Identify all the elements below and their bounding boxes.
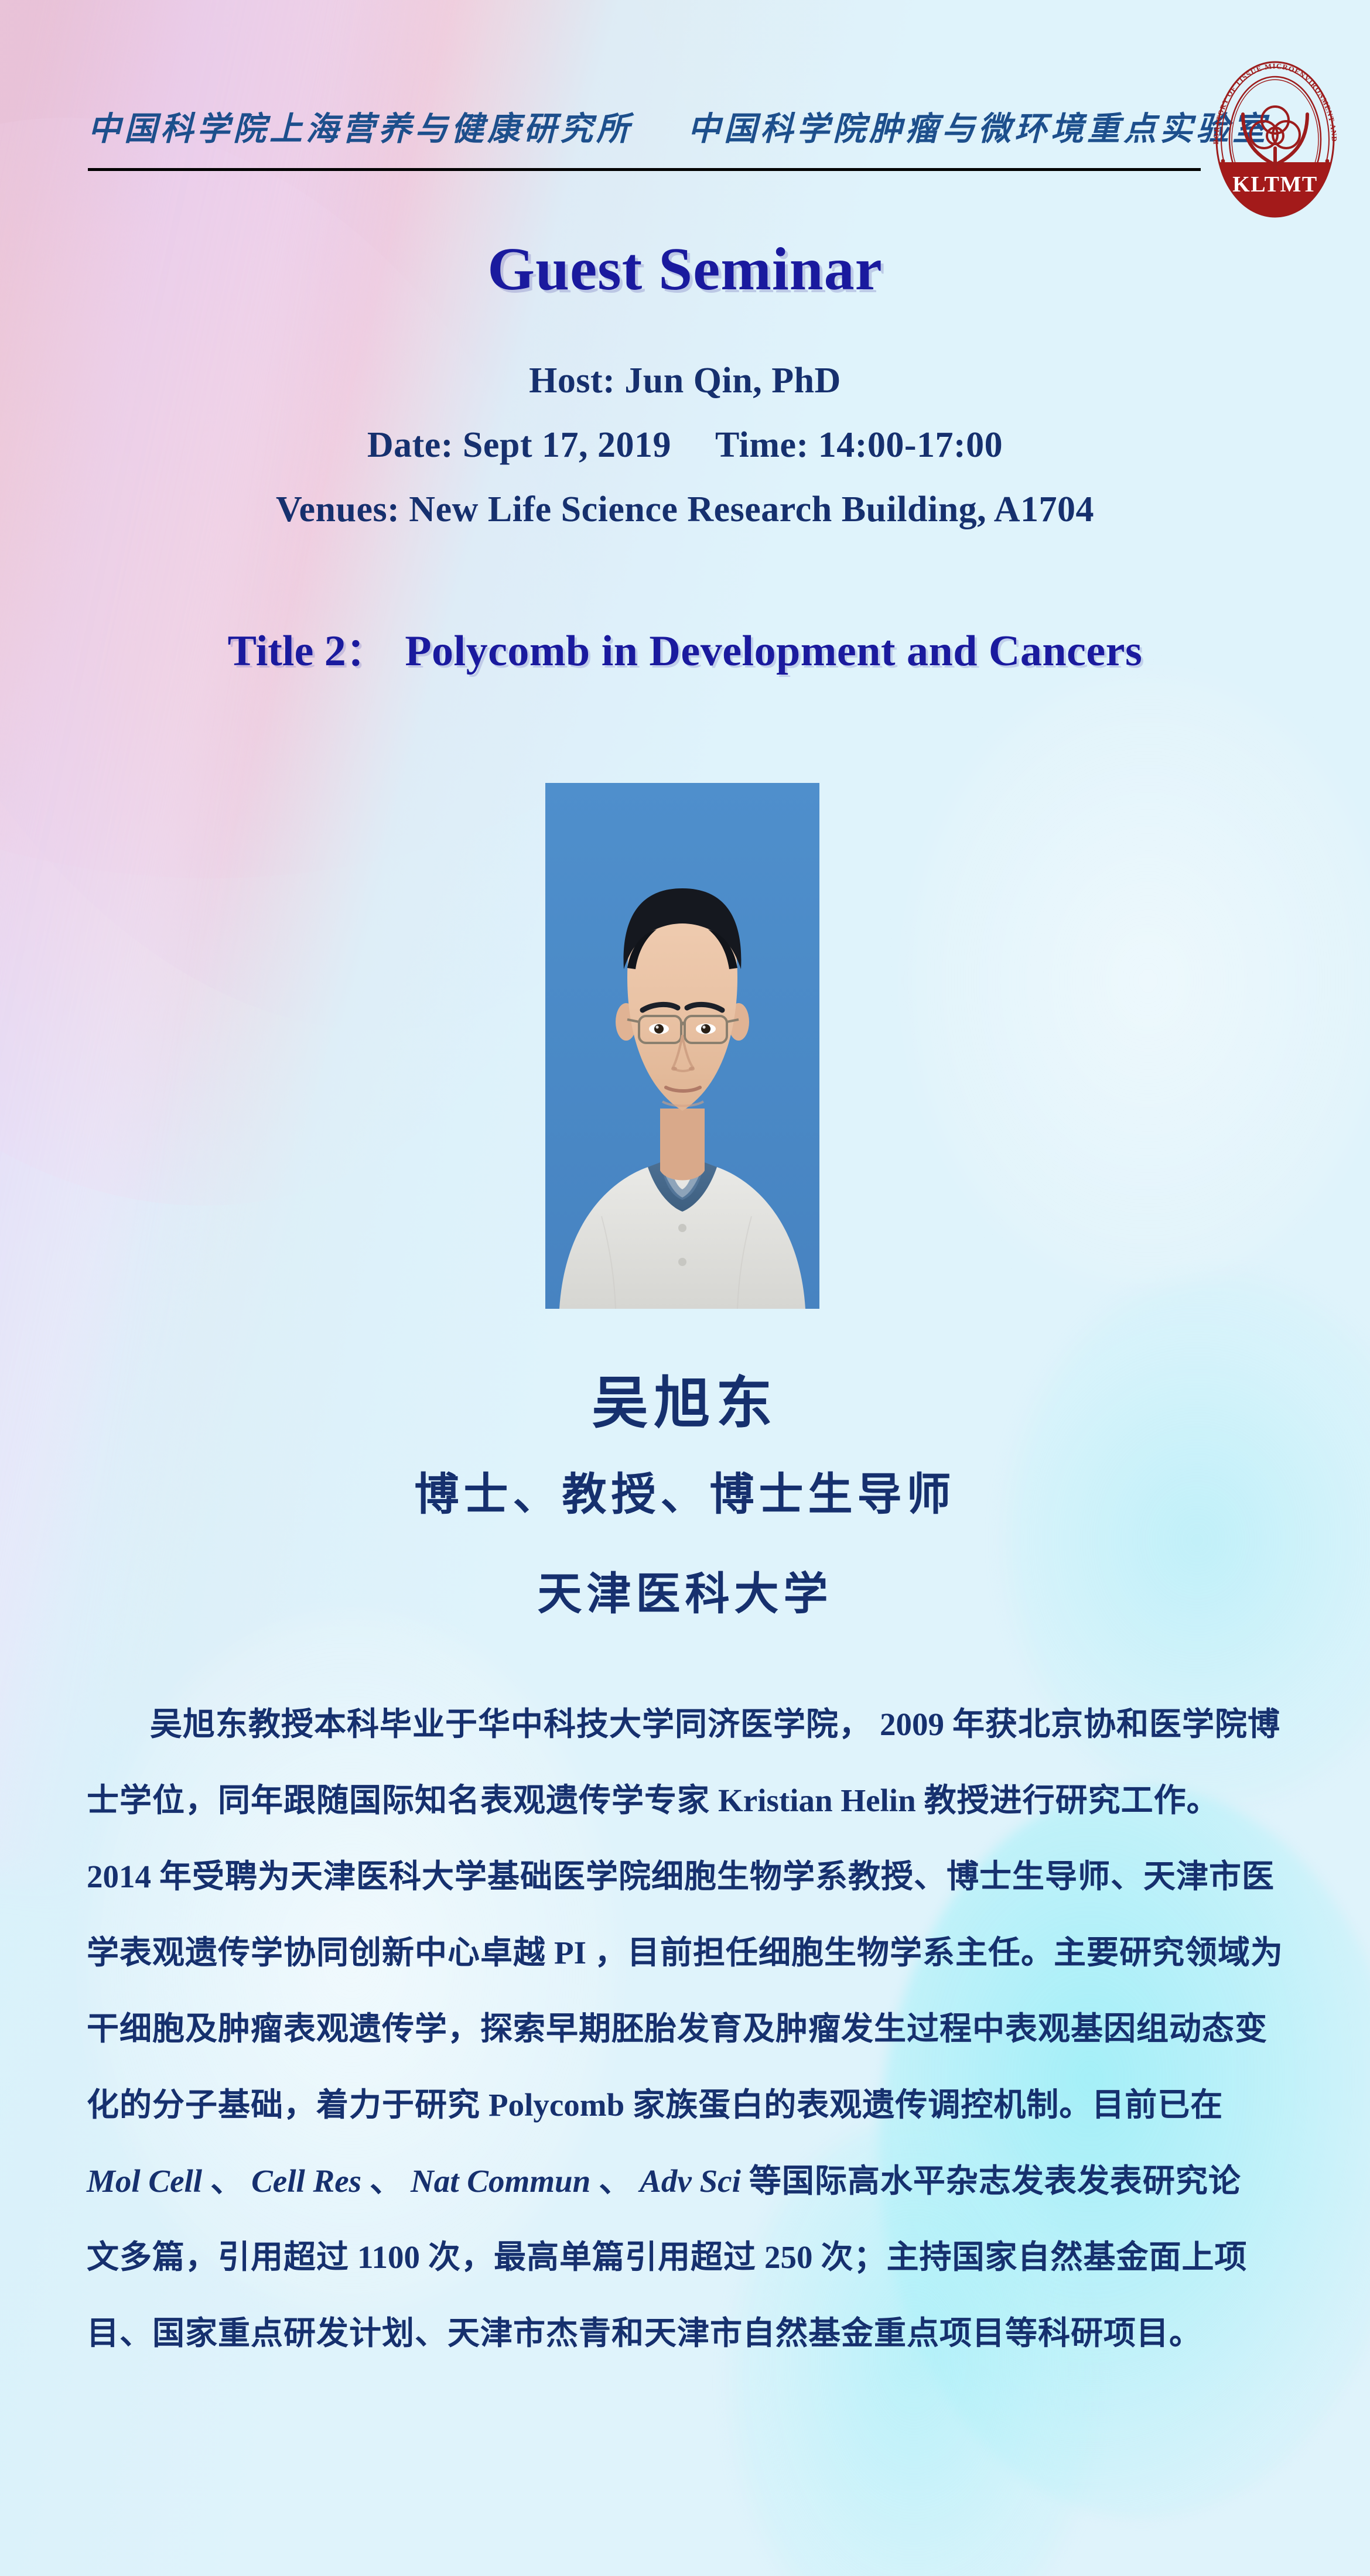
bio-latin-term: Kristian Helin (718, 1783, 916, 1818)
talk-number-label: Title 2 (228, 627, 346, 675)
speaker-affiliation: 天津医科大学 (0, 1558, 1370, 1622)
background-highlight-upper (908, 673, 1370, 1288)
bio-journal-name: Adv Sci (640, 2163, 741, 2199)
time-text: Time: 14:00-17:00 (715, 425, 1003, 465)
venue-line: Venues: New Life Science Research Buildi… (0, 489, 1370, 531)
talk-title-text: Polycomb in Development and Cancers (405, 627, 1142, 675)
bio-text: 次，最高单篇引用超过 (428, 2239, 756, 2275)
logo-acronym: KLTMT (1232, 172, 1317, 197)
bio-latin-term: PI (554, 1935, 586, 1971)
bio-journal-name: Nat Commun (411, 2163, 590, 2199)
date-text: Date: Sept 17, 2019 (367, 425, 671, 465)
speaker-biography: 吴旭东教授本科毕业于华中科技大学同济医学院，2009年获北京协和医学院博士学位，… (87, 1686, 1284, 2372)
bio-text: 年受聘为天津医科大学基础医学院细胞生物学系教授、博士生导师、天津市医 (159, 1859, 1275, 1894)
seminar-poster: 中国科学院上海营养与健康研究所 中国科学院肿瘤与微环境重点实验室 KEY LAB… (0, 0, 1370, 2576)
bio-line: 士学位，同年跟随国际知名表观遗传学专家Kristian Helin教授进行研究工… (87, 1763, 1284, 1839)
organization-key-lab: 中国科学院肿瘤与微环境重点实验室 (688, 111, 1269, 148)
bio-text: 吴旭东教授本科毕业于华中科技大学同济医学院， (150, 1706, 872, 1742)
bio-line: 目、国家重点研发计划、天津市杰青和天津市自然基金重点项目等科研项目。 (87, 2296, 1284, 2372)
speaker-photo (545, 783, 819, 1309)
host-line: Host: Jun Qin, PhD (0, 360, 1370, 402)
bio-latin-term: 250 (764, 2239, 813, 2275)
bio-latin-term: Polycomb (488, 2087, 624, 2123)
bio-line: 学表观遗传学协同创新中心卓越PI，目前担任细胞生物学系主任。主要研究领域为 (87, 1915, 1284, 1991)
bio-line: 吴旭东教授本科毕业于华中科技大学同济医学院，2009年获北京协和医学院博 (87, 1686, 1284, 1763)
bio-text: 干细胞及肿瘤表观遗传学，探索早期胚胎发育及肿瘤发生过程中表观基因组动态变 (87, 2011, 1267, 2047)
bio-line: 2014年受聘为天津医科大学基础医学院细胞生物学系教授、博士生导师、天津市医 (87, 1839, 1284, 1915)
speaker-name: 吴旭东 (0, 1357, 1370, 1439)
bio-latin-term: 2014 (87, 1859, 151, 1894)
bio-text: 家族蛋白的表观遗传调控机制。目前已在 (633, 2087, 1223, 2123)
organization-line: 中国科学院上海营养与健康研究所 中国科学院肿瘤与微环境重点实验室 (88, 102, 1171, 150)
bio-text: 化的分子基础，着力于研究 (87, 2087, 480, 2123)
bio-text: 、 (210, 2163, 243, 2199)
kltmt-logo: KEY LABORATORY OF TISSUE MICROENVIRONMEN… (1202, 56, 1348, 223)
bio-text: 、 (599, 2163, 631, 2199)
bio-latin-term: 1100 (357, 2239, 420, 2275)
bio-text: 目、国家重点研发计划、天津市杰青和天津市自然基金重点项目等科研项目。 (87, 2315, 1202, 2351)
bio-text: 学表观遗传学协同创新中心卓越 (87, 1935, 546, 1971)
bio-line: 化的分子基础，着力于研究Polycomb家族蛋白的表观遗传调控机制。目前已在 (87, 2067, 1284, 2143)
bio-text: 教授进行研究工作。 (924, 1783, 1219, 1818)
bio-latin-term: 2009 (880, 1706, 944, 1742)
bio-text: 等国际高水平杂志发表发表研究论 (749, 2163, 1241, 2199)
talk-colon: ： (346, 631, 385, 674)
poster-header: 中国科学院上海营养与健康研究所 中国科学院肿瘤与微环境重点实验室 (0, 102, 1370, 208)
bio-text: 次；主持国家自然基金面上项 (821, 2239, 1248, 2275)
bio-text: 、 (370, 2163, 402, 2199)
header-divider (88, 168, 1201, 171)
talk-title: Title 2：Polycomb in Development and Canc… (0, 621, 1370, 677)
date-time-line: Date: Sept 17, 2019 Time: 14:00-17:00 (0, 425, 1370, 466)
bio-journal-name: Mol Cell (87, 2163, 202, 2199)
bio-text: 文多篇，引用超过 (87, 2239, 349, 2275)
bio-text: ，目前担任细胞生物学系主任。主要研究领域为 (595, 1935, 1283, 1971)
page-title: Guest Seminar (0, 234, 1370, 304)
bio-journal-name: Cell Res (251, 2163, 361, 2199)
speaker-role: 博士、教授、博士生导师 (0, 1458, 1370, 1523)
bio-text: 年获北京协和医学院博 (952, 1706, 1280, 1742)
organization-institute: 中国科学院上海营养与健康研究所 (88, 111, 633, 148)
bio-text: 士学位，同年跟随国际知名表观遗传学专家 (87, 1783, 710, 1818)
bio-line: Mol Cell、Cell Res、Nat Commun、Adv Sci等国际高… (87, 2143, 1284, 2219)
bio-line: 文多篇，引用超过1100次，最高单篇引用超过250次；主持国家自然基金面上项 (87, 2219, 1284, 2296)
bio-line: 干细胞及肿瘤表观遗传学，探索早期胚胎发育及肿瘤发生过程中表观基因组动态变 (87, 1991, 1284, 2067)
